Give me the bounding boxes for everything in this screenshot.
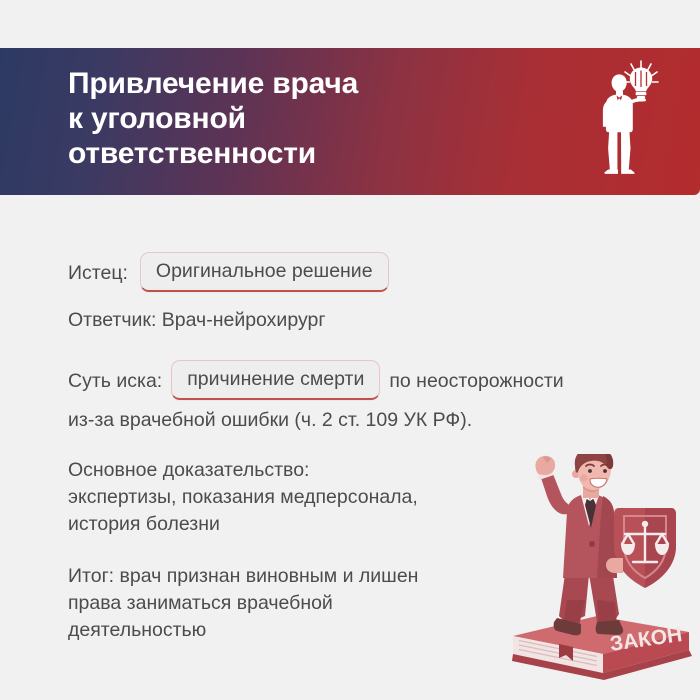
page-title: Привлечение врача к уголовной ответствен…	[68, 66, 358, 171]
content-area: Истец: Оригинальное решение Ответчик: Вр…	[0, 195, 700, 700]
businessman-with-idea-lightbulb-icon	[590, 60, 662, 182]
plaintiff-row: Истец: Оригинальное решение	[68, 253, 398, 293]
claim-label: Суть иска:	[68, 368, 162, 395]
plaintiff-value-badge[interactable]: Оригинальное решение	[140, 252, 389, 292]
claim-row: Суть иска: причинение смерти по неосторо…	[68, 361, 564, 401]
claim-second-line: из-за врачебной ошибки (ч. 2 ст. 109 УК …	[68, 407, 472, 434]
plaintiff-label: Истец:	[68, 260, 128, 287]
lawyer-figure	[535, 454, 627, 635]
claim-tail-text: по неосторожности	[389, 368, 563, 395]
evidence-block: Основное доказательство: экспертизы, пок…	[68, 457, 418, 538]
justice-shield-icon	[614, 508, 676, 588]
claim-highlight-badge[interactable]: причинение смерти	[171, 360, 380, 400]
header-banner: Привлечение врача к уголовной ответствен…	[0, 48, 700, 195]
result-block: Итог: врач признан виновным и лишен прав…	[68, 563, 418, 644]
defendant-row: Ответчик: Врач-нейрохирург	[68, 307, 325, 334]
lawyer-on-law-book-illustration: ЗАКОН	[493, 454, 698, 694]
